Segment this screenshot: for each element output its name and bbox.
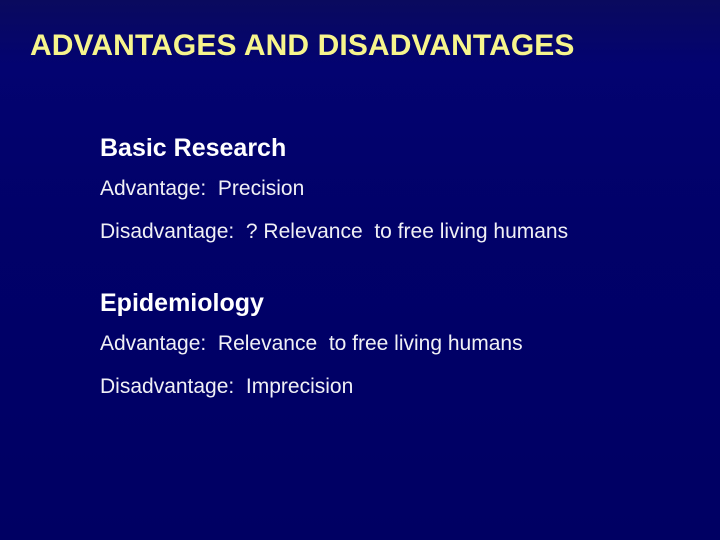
section-heading-epidemiology: Epidemiology (100, 288, 680, 318)
advantage-line-basic-research: Advantage: Precision (100, 176, 680, 202)
slide-title: ADVANTAGES AND DISADVANTAGES (30, 29, 698, 63)
section-epidemiology: Epidemiology Advantage: Relevance to fre… (100, 288, 680, 400)
slide-body: Basic Research Advantage: Precision Disa… (100, 133, 680, 400)
disadvantage-line-epidemiology: Disadvantage: Imprecision (100, 374, 680, 400)
disadvantage-line-basic-research: Disadvantage: ? Relevance to free living… (100, 219, 680, 245)
section-heading-basic-research: Basic Research (100, 133, 680, 163)
advantage-line-epidemiology: Advantage: Relevance to free living huma… (100, 331, 680, 357)
presentation-slide: ADVANTAGES AND DISADVANTAGES Basic Resea… (0, 0, 720, 540)
section-basic-research: Basic Research Advantage: Precision Disa… (100, 133, 680, 245)
